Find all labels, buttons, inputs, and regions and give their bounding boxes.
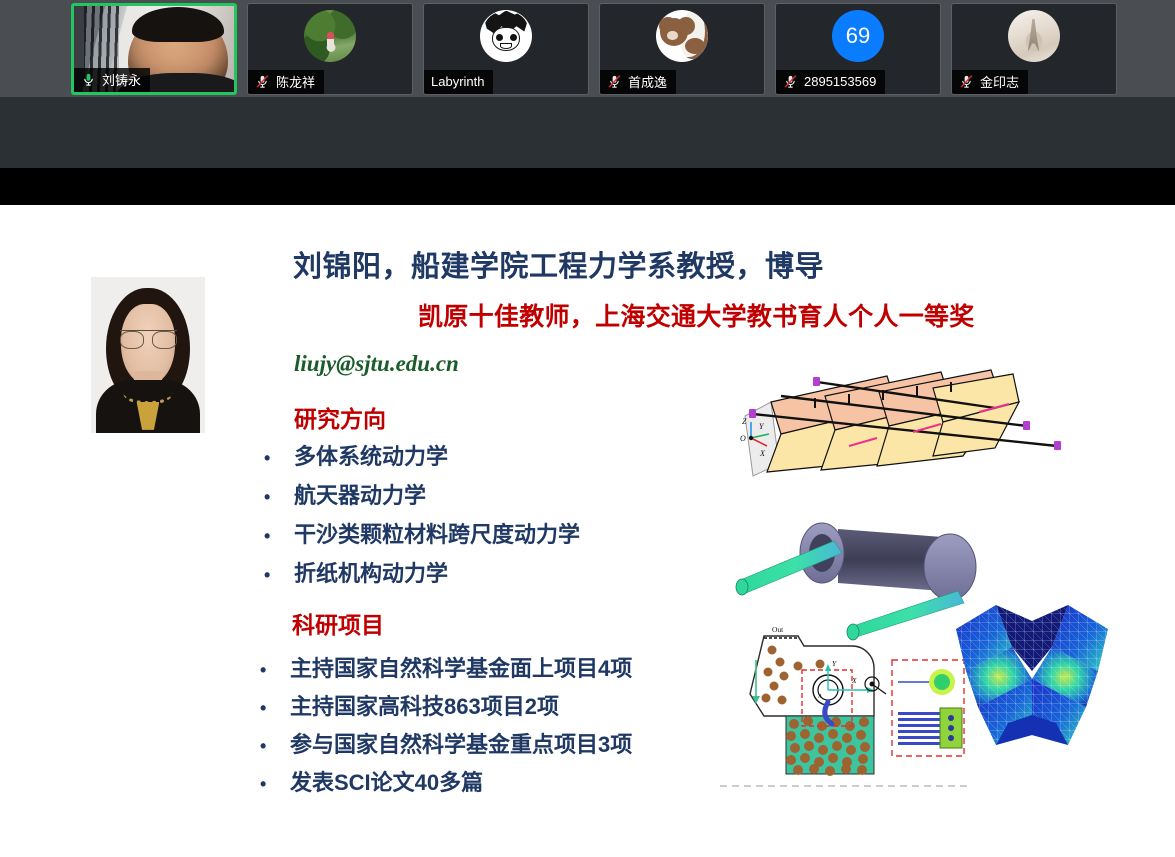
mic-on-icon [81, 72, 96, 87]
participant-tile-1[interactable]: 刘铸永 [71, 3, 237, 95]
mic-muted-icon [959, 74, 974, 89]
participant-avatar [304, 10, 356, 62]
projects-list: • 主持国家自然科学基金面上项目4项 • 主持国家高科技863项目2项 • 参与… [260, 651, 632, 803]
participant-avatar: 69 [832, 10, 884, 62]
figure-axis-label-z: Z [742, 417, 747, 426]
list-item: • 航天器动力学 [264, 478, 580, 517]
shared-slide: 刘锦阳，船建学院工程力学系教授，博导 凯原十佳教师，上海交通大学教书育人个人一等… [0, 205, 1175, 857]
bullet-glyph: • [264, 448, 294, 469]
bullet-glyph: • [260, 774, 290, 795]
section-heading-projects: 科研项目 [292, 606, 384, 640]
participant-avatar [480, 10, 532, 62]
mic-muted-icon [607, 74, 622, 89]
participant-filmstrip: 刘铸永 陈龙祥 Laby [0, 0, 1175, 97]
participant-tile-5[interactable]: 69 2895153569 [775, 3, 941, 95]
list-item-label: 多体系统动力学 [294, 439, 448, 471]
participant-tile-2[interactable]: 陈龙祥 [247, 3, 413, 95]
participant-nameplate: 刘铸永 [74, 68, 150, 92]
list-item: • 主持国家高科技863项目2项 [260, 689, 632, 727]
bullet-glyph: • [260, 698, 290, 719]
research-directions-list: • 多体系统动力学 • 航天器动力学 • 干沙类颗粒材料跨尺度动力学 • 折纸机… [264, 439, 580, 595]
list-item: • 参与国家自然科学基金重点项目3项 [260, 727, 632, 765]
list-item: • 主持国家自然科学基金面上项目4项 [260, 651, 632, 689]
mic-muted-icon [783, 74, 798, 89]
participant-nameplate: 2895153569 [776, 70, 885, 94]
list-item-label: 发表SCI论文40多篇 [290, 765, 483, 797]
participant-nameplate: 陈龙祥 [248, 70, 324, 94]
list-item: • 发表SCI论文40多篇 [260, 765, 632, 803]
figure-granular-simulation: Out Y X A [720, 620, 972, 790]
figure-label-out: Out [772, 625, 784, 634]
participant-tile-4[interactable]: 首成逸 [599, 3, 765, 95]
list-item-label: 主持国家自然科学基金面上项目4项 [290, 651, 632, 683]
bullet-glyph: • [264, 565, 294, 586]
slide-subtitle-award: 凯原十佳教师，上海交通大学教书育人个人一等奖 [418, 297, 975, 333]
list-item-label: 参与国家自然科学基金重点项目3项 [290, 727, 632, 759]
bullet-glyph: • [264, 526, 294, 547]
list-item-label: 干沙类颗粒材料跨尺度动力学 [294, 517, 580, 549]
participant-name: 陈龙祥 [276, 72, 315, 91]
participant-name: 2895153569 [804, 74, 876, 89]
mic-muted-icon [255, 74, 270, 89]
figure-origami-mechanism: Z Y X O [727, 368, 1072, 493]
participant-avatar [656, 10, 708, 62]
list-item-label: 航天器动力学 [294, 478, 426, 510]
participant-name: Labyrinth [431, 74, 484, 89]
participant-nameplate: 金印志 [952, 70, 1028, 94]
figure-label-a: A [817, 693, 822, 700]
list-item: • 干沙类颗粒材料跨尺度动力学 [264, 517, 580, 556]
bullet-glyph: • [264, 487, 294, 508]
participant-nameplate: 首成逸 [600, 70, 676, 94]
email-address: liujy@sjtu.edu.cn [294, 351, 459, 377]
screen-root: 刘铸永 陈龙祥 Laby [0, 0, 1175, 857]
toolbar-band [0, 97, 1175, 168]
figure-axis-label-origin: O [740, 434, 746, 443]
figure-origami-fea-contour [952, 595, 1112, 755]
participant-nameplate: Labyrinth [424, 70, 493, 94]
participant-name: 首成逸 [628, 72, 667, 91]
participant-avatar [1008, 10, 1060, 62]
participant-tile-6[interactable]: 金印志 [951, 3, 1117, 95]
avatar-initials: 69 [846, 23, 870, 49]
bullet-glyph: • [260, 736, 290, 757]
letterbox-band [0, 168, 1175, 205]
list-item: • 多体系统动力学 [264, 439, 580, 478]
list-item: • 折纸机构动力学 [264, 556, 580, 595]
figure-axis-label-x: X [851, 676, 857, 685]
bullet-glyph: • [260, 660, 290, 681]
professor-portrait-photo [91, 277, 205, 433]
list-item-label: 折纸机构动力学 [294, 556, 448, 588]
participant-name: 金印志 [980, 72, 1019, 91]
list-item-label: 主持国家高科技863项目2项 [290, 689, 559, 721]
participant-name: 刘铸永 [102, 70, 141, 89]
section-heading-research: 研究方向 [294, 400, 386, 434]
slide-title: 刘锦阳，船建学院工程力学系教授，博导 [293, 243, 824, 285]
participant-tile-3[interactable]: Labyrinth [423, 3, 589, 95]
